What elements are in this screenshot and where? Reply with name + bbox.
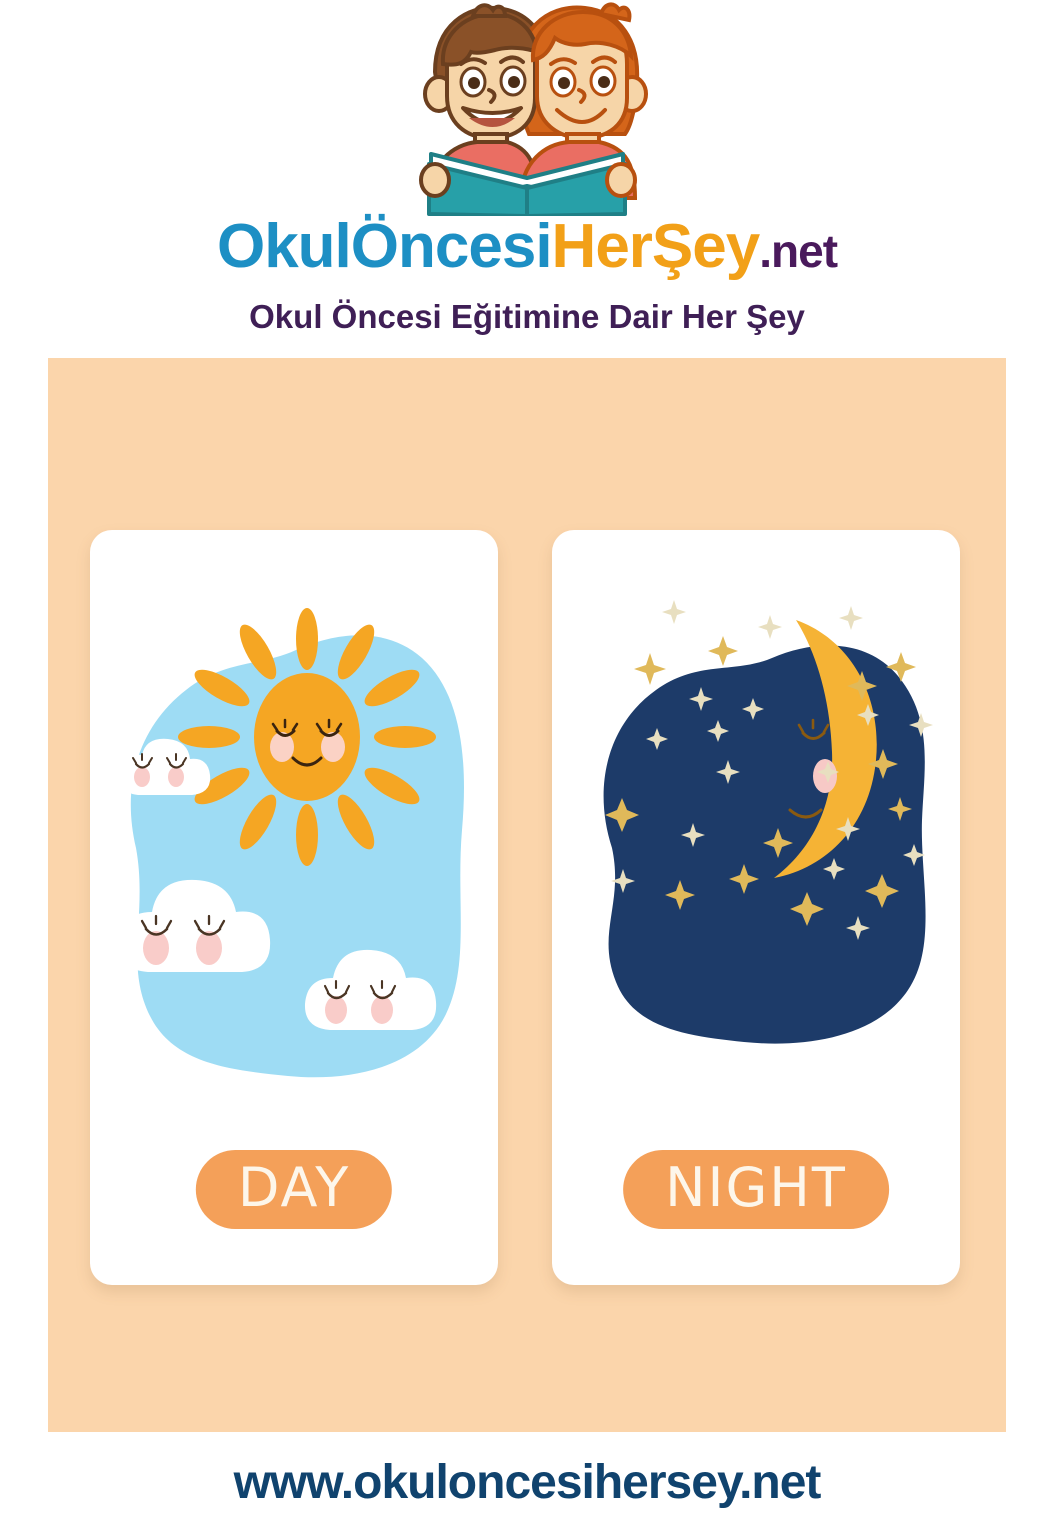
wordmark-part-blue: OkulÖncesi xyxy=(217,212,552,281)
brand-wordmark: OkulÖncesiHerŞey.net xyxy=(0,216,1054,278)
wordmark-part-tld: .net xyxy=(759,225,837,277)
crescent-moon-and-stars-icon xyxy=(552,548,960,1148)
flashcard-label-day: DAY xyxy=(196,1150,392,1229)
page-header: OkulÖncesiHerŞey.net Okul Öncesi Eğitimi… xyxy=(0,0,1054,350)
wordmark-part-orange: HerŞey xyxy=(552,212,760,281)
flashcard-day[interactable]: DAY xyxy=(90,530,498,1285)
worksheet-panel: DAY xyxy=(48,358,1006,1432)
flashcard-night[interactable]: NIGHT xyxy=(552,530,960,1285)
two-children-reading-book-icon xyxy=(377,2,677,221)
footer-website-url[interactable]: www.okuloncesihersey.net xyxy=(0,1455,1054,1510)
flashcard-label-night: NIGHT xyxy=(623,1150,889,1229)
sun-and-clouds-icon xyxy=(90,548,498,1148)
brand-tagline: Okul Öncesi Eğitimine Dair Her Şey xyxy=(0,298,1054,336)
